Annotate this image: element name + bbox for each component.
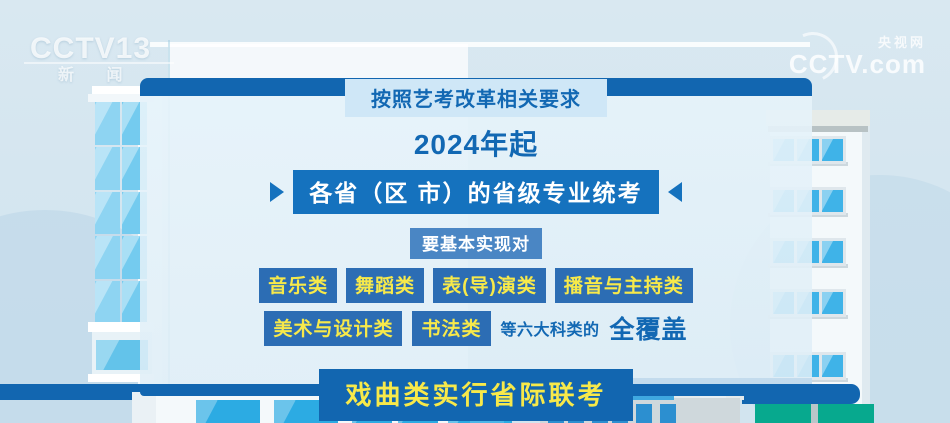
info-panel: 按照艺考改革相关要求 2024年起 各省（区 市）的省级专业统考 要基本实现对 … <box>140 78 812 390</box>
category-tag-label: 播音与主持类 <box>564 276 684 297</box>
category-tag: 音乐类 <box>259 268 337 303</box>
window-pane <box>95 192 120 235</box>
window-pane <box>822 139 843 161</box>
window-pane <box>196 400 260 423</box>
bottom-teal-block-right <box>818 404 874 423</box>
headline-text-3: 各省（区 市）的省级专业统考 <box>309 180 642 206</box>
window-pane <box>822 292 843 314</box>
cctv13-logo-text: CCTV13 <box>30 34 151 64</box>
headline-band-1: 按照艺考改革相关要求 <box>345 79 607 117</box>
building-right-tower-edge <box>862 120 870 423</box>
window-pane <box>95 102 120 145</box>
headline-text-4: 要基本实现对 <box>422 235 530 254</box>
suffix-text-small: 等六大科类的 <box>501 316 600 340</box>
window-pane <box>95 281 120 324</box>
background-top-strip <box>150 42 810 47</box>
window-pane <box>822 190 843 212</box>
suffix-text-large: 全覆盖 <box>610 310 688 346</box>
category-tag-row-2: 美术与设计类 书法类 等六大科类的 全覆盖 <box>264 310 687 346</box>
bottom-teal-block-left <box>755 404 813 423</box>
cctvcom-watermark: 央视网 CCTV.com <box>789 36 926 77</box>
category-tag: 书法类 <box>412 311 490 346</box>
bottom-teal-divider <box>811 404 818 423</box>
category-tag: 舞蹈类 <box>346 268 424 303</box>
headline-band-4: 要基本实现对 <box>410 228 542 259</box>
category-tag-label: 舞蹈类 <box>355 276 415 297</box>
category-tag: 美术与设计类 <box>264 311 402 346</box>
category-tag: 表(导)演类 <box>433 268 546 303</box>
window-pane <box>636 404 652 423</box>
headline-band-3: 各省（区 市）的省级专业统考 <box>293 170 658 214</box>
bottom-banner-text: 戏曲类实行省际联考 <box>345 380 606 410</box>
category-tag-row-1: 音乐类 舞蹈类 表(导)演类 播音与主持类 <box>259 268 693 303</box>
window-pane <box>822 355 843 377</box>
headline-text-2: 2024年起 <box>414 123 538 163</box>
window-pane <box>822 241 843 263</box>
info-panel-content: 按照艺考改革相关要求 2024年起 各省（区 市）的省级专业统考 要基本实现对 … <box>140 78 812 390</box>
category-tag-label: 表(导)演类 <box>442 276 537 297</box>
category-tag-label: 音乐类 <box>268 276 328 297</box>
window-pane <box>660 404 676 423</box>
cctv13-watermark: CCTV13 新 闻 <box>30 34 151 84</box>
bottom-banner: 戏曲类实行省际联考 <box>319 369 632 421</box>
category-tag-label: 书法类 <box>421 319 481 340</box>
triangle-right-icon <box>270 182 284 202</box>
headline-text-1: 按照艺考改革相关要求 <box>371 89 581 111</box>
screenshot-root: CCTV13 新 闻 央视网 CCTV.com 按照艺考改革相关要求 2024年… <box>0 0 950 423</box>
triangle-left-icon <box>668 182 682 202</box>
headline-band-3-wrapper: 各省（区 市）的省级专业统考 <box>270 170 681 214</box>
cctv13-channel-name: 新 闻 <box>58 68 151 84</box>
window-pane <box>95 236 120 279</box>
category-tag-label: 美术与设计类 <box>273 319 393 340</box>
window-pane <box>95 147 120 190</box>
category-tag: 播音与主持类 <box>555 268 693 303</box>
